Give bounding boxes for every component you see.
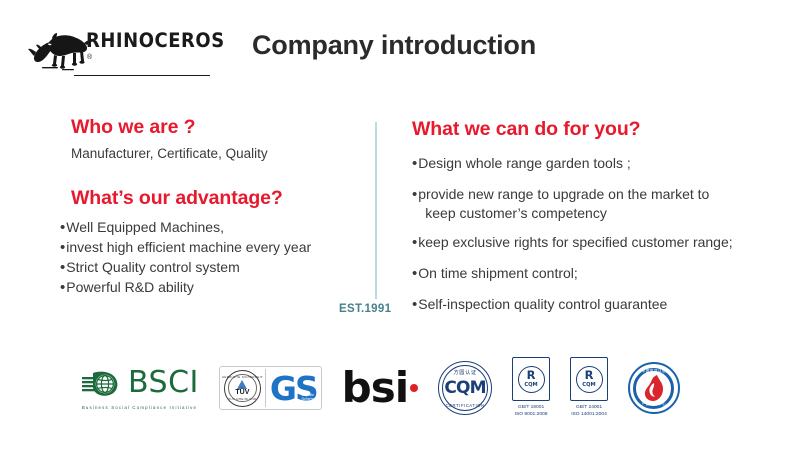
list-item-label: Strict Quality control system (66, 258, 360, 278)
list-item: • provide new range to upgrade on the ma… (412, 185, 782, 223)
bullet-dot-icon: • (412, 185, 417, 205)
list-item-label: Powerful R&D ability (66, 278, 360, 298)
iso-14001-caption: GB/T 24001 ISO 14001:2004 (571, 405, 607, 419)
gs-mark-icon: GS Geprüfte Sicherheit (270, 372, 317, 405)
list-item-label: provide new range to upgrade on the mark… (418, 185, 782, 223)
bullet-dot-icon: • (60, 218, 65, 238)
list-item-line-1: provide new range to upgrade on the mark… (418, 186, 709, 202)
bullet-dot-icon: • (60, 238, 65, 258)
advantage-heading: What’s our advantage? (71, 187, 360, 210)
column-divider (375, 122, 377, 299)
bsi-certification-logo: bsi (342, 352, 418, 424)
list-item: • Self-inspection quality control guaran… (412, 295, 782, 315)
registered-trademark-icon: ® (87, 54, 92, 61)
slide-header: RHINOCEROS® Company introduction (0, 0, 800, 92)
iso-9001-box-icon: R CQM (512, 357, 550, 401)
bullet-dot-icon: • (412, 154, 417, 174)
gs-subtext: Geprüfte Sicherheit (302, 393, 316, 401)
cqm-wordmark: CQM (444, 380, 485, 397)
gs-subtext-line-2: Sicherheit (302, 397, 316, 401)
iso-9001-caption-line-2: ISO 9001:2008 (515, 412, 548, 417)
advantage-bullet-list: • Well Equipped Machines, • invest high … (60, 218, 360, 298)
iso-9001-certification-logo: R CQM GB/T 19001 ISO 9001:2008 (512, 352, 550, 424)
bullet-dot-icon: • (412, 295, 417, 315)
iso-14001-caption-line-1: GB/T 24001 (576, 405, 602, 410)
iso-9001-caption-line-1: GB/T 19001 (518, 405, 544, 410)
bsi-red-dot-icon (410, 384, 418, 392)
capabilities-bullet-list: • Design whole range garden tools ; • pr… (412, 154, 782, 315)
flame-seal-icon: 中国质量认证 产品认证中心 (628, 362, 680, 414)
iso-14001-caption-line-2: ISO 14001:2004 (571, 412, 607, 417)
list-item: • keep exclusive rights for specified cu… (412, 233, 782, 253)
rhinoceros-logo: RHINOCEROS® (26, 26, 206, 72)
cqm-seal-icon: 方圆认证 CQM CERTIFICATION (438, 361, 492, 415)
list-item: • Design whole range garden tools ; (412, 154, 782, 174)
list-item: • On time shipment control; (412, 264, 782, 284)
established-badge: EST.1991 (339, 303, 391, 315)
iso-14001-r-circle-icon: R CQM (576, 366, 603, 393)
tuv-gs-separator (265, 369, 266, 407)
tuv-arc-top-text: GEPRÜFTE SICHERHEIT (222, 375, 263, 379)
tuv-arc-bottom-text: TUV RHEINLAND (228, 397, 256, 401)
iso-9001-r-letter: R (527, 370, 536, 382)
brand-wordmark: RHINOCEROS® (86, 31, 237, 72)
capabilities-heading: What we can do for you? (412, 118, 782, 141)
list-item: • Powerful R&D ability (60, 278, 360, 298)
list-item-label: Well Equipped Machines, (66, 218, 360, 238)
left-column: Who we are ? Manufacturer, Certificate, … (60, 116, 360, 298)
iso-14001-certification-logo: R CQM GB/T 24001 ISO 14001:2004 (570, 352, 608, 424)
brand-name-text: RHINOCEROS (86, 31, 225, 51)
slide-canvas: RHINOCEROS® Company introduction Who we … (0, 0, 800, 449)
tuv-gs-certification-logo: GEPRÜFTE SICHERHEIT TÜV TUV RHEINLAND GS… (219, 366, 322, 410)
flame-seal-chinese-bottom: 产品认证中心 (642, 402, 667, 407)
bullet-dot-icon: • (60, 258, 65, 278)
who-we-are-text: Manufacturer, Certificate, Quality (71, 146, 360, 161)
list-item: • invest high efficient machine every ye… (60, 238, 360, 258)
cqm-chinese-text: 方圆认证 (454, 369, 477, 376)
list-item-label: Design whole range garden tools ; (418, 154, 782, 173)
china-quality-certification-logo: 中国质量认证 产品认证中心 (628, 352, 680, 424)
brand-underline-rule (74, 75, 210, 77)
cqm-certification-logo: 方圆认证 CQM CERTIFICATION (438, 352, 492, 424)
bsci-hand-globe-icon (80, 366, 124, 400)
bullet-dot-icon: • (412, 264, 417, 284)
iso-9001-cqm-label: CQM (524, 383, 537, 388)
bsci-wordmark: BSCI (128, 368, 199, 398)
page-title: Company introduction (252, 30, 536, 61)
bsci-certification-logo: BSCI Business Social Compliance Initiati… (80, 352, 199, 424)
iso-9001-r-circle-icon: R CQM (518, 366, 545, 393)
list-item-label: On time shipment control; (418, 264, 782, 283)
bsi-wordmark: bsi (342, 367, 408, 409)
right-column: What we can do for you? • Design whole r… (412, 118, 782, 315)
red-flame-icon (642, 374, 666, 402)
list-item-line-2: keep customer’s competency (418, 204, 782, 223)
list-item-label: keep exclusive rights for specified cust… (418, 233, 782, 252)
bullet-dot-icon: • (60, 278, 65, 298)
cqm-certification-text: CERTIFICATION (446, 403, 485, 408)
list-item: • Well Equipped Machines, (60, 218, 360, 238)
flame-seal-chinese-top: 中国质量认证 (642, 369, 667, 374)
bullet-dot-icon: • (412, 233, 417, 253)
certification-logo-strip: BSCI Business Social Compliance Initiati… (80, 352, 680, 424)
tuv-seal-icon: GEPRÜFTE SICHERHEIT TÜV TUV RHEINLAND (224, 370, 261, 407)
who-we-are-heading: Who we are ? (71, 116, 360, 139)
iso-9001-caption: GB/T 19001 ISO 9001:2008 (515, 405, 548, 419)
bsci-logo-row: BSCI (80, 366, 199, 400)
list-item: • Strict Quality control system (60, 258, 360, 278)
bsci-tagline: Business Social Compliance Initiative (82, 405, 197, 410)
iso-14001-r-letter: R (585, 370, 594, 382)
list-item-label: Self-inspection quality control guarante… (418, 295, 782, 314)
iso-14001-cqm-label: CQM (582, 383, 595, 388)
list-item-label: invest high efficient machine every year (66, 238, 360, 258)
iso-14001-box-icon: R CQM (570, 357, 608, 401)
